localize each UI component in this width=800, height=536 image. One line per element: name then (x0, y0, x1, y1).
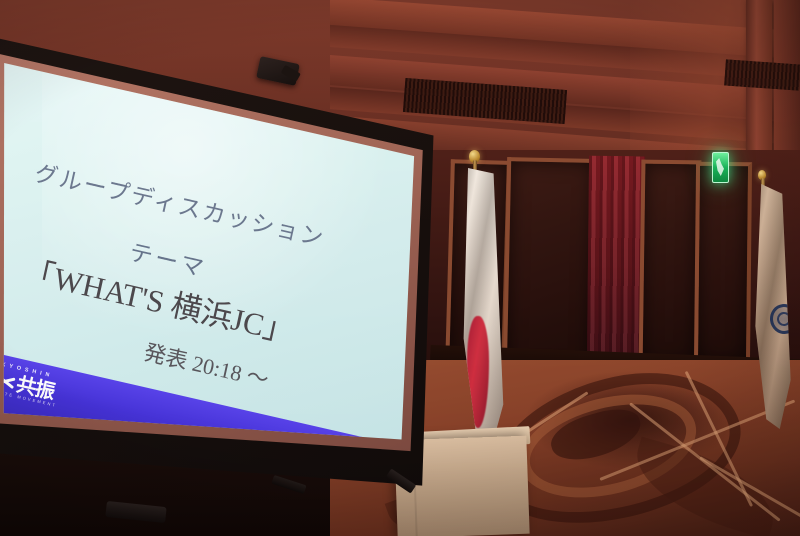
flag-jci-emblem-icon (769, 303, 800, 336)
wall-panel (639, 160, 702, 369)
flag-jci-cloth (752, 184, 794, 429)
flag-japan (455, 158, 525, 448)
wall-panel (694, 162, 752, 367)
flag-jci (748, 176, 800, 446)
projection-screen-assembly: グループディスカッション テーマ 「WHAT'S 横浜JC」 発表 20:18 … (0, 18, 456, 518)
screen-top-clamp (256, 56, 300, 86)
screen-support-bar (271, 475, 306, 494)
kyoshin-logo: KYOSHIN 共振 CREATE MOVEMENT (0, 355, 86, 413)
flag-japan-sun-disc (467, 316, 489, 428)
red-curtain (587, 156, 645, 369)
exit-runner-icon (716, 158, 724, 176)
emergency-exit-sign (712, 152, 729, 183)
ceiling-vent-grille (724, 59, 800, 90)
photo-scene: グループディスカッション テーマ 「WHAT'S 横浜JC」 発表 20:18 … (0, 0, 800, 536)
flag-japan-cloth (461, 168, 505, 443)
